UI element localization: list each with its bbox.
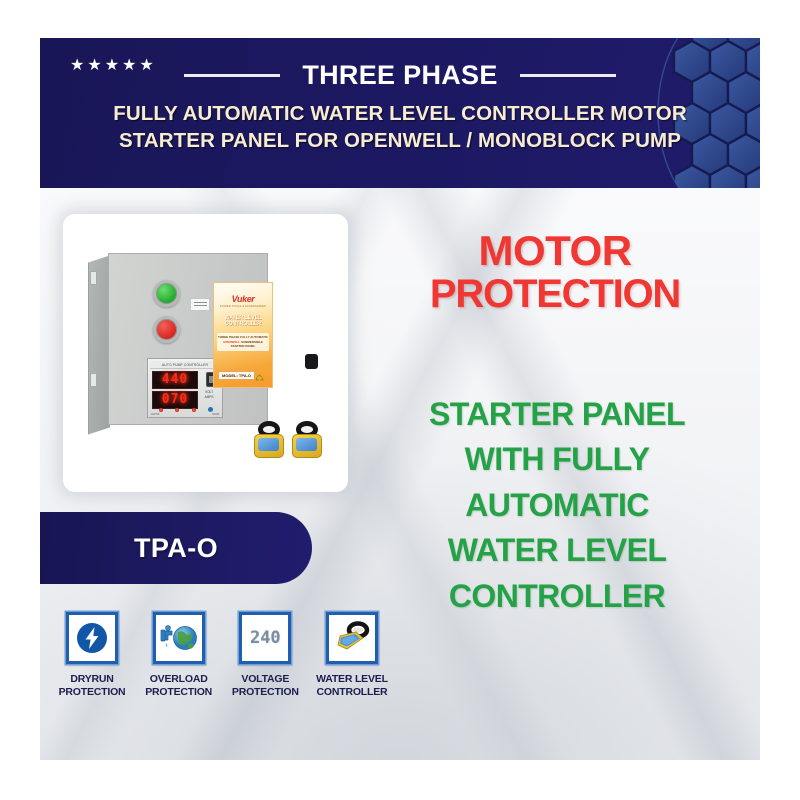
feature-voltage-protection: 240 VOLTAGE PROTECTION	[225, 612, 305, 698]
feature-water-level-controller: WATER LEVEL CONTROLLER	[312, 612, 392, 698]
headline-line-1: MOTOR	[385, 228, 725, 273]
float-body-1	[254, 434, 284, 458]
feature-label-overload: OVERLOAD PROTECTION	[139, 673, 219, 698]
float-sensor-2	[292, 421, 322, 467]
header-subtitle: FULLY AUTOMATIC WATER LEVEL CONTROLLER M…	[40, 100, 760, 154]
product-photo-card: AUTO PUMP CONTROLLER 440 070 VOLT AMPS	[63, 214, 348, 492]
product-photo: AUTO PUMP CONTROLLER 440 070 VOLT AMPS	[72, 223, 339, 483]
headline-line-2: PROTECTION	[385, 273, 725, 316]
sticker-brand-tagline: POWER TOOLS & ACCESSORIES	[214, 305, 272, 308]
green-push-button	[153, 280, 180, 307]
float-body-2	[292, 434, 322, 458]
sticker-spec-box: THREE PHASE FULLY AUTOMATIC OPENWELL SUB…	[217, 333, 269, 351]
divider-left	[184, 74, 280, 77]
body-copy: STARTER PANEL WITH FULLY AUTOMATIC WATER…	[383, 392, 731, 619]
feature-list: DRYRUN PROTECTION	[52, 612, 392, 724]
product-sticker-label: Vuker POWER TOOLS & ACCESSORIES WATER LE…	[213, 282, 273, 388]
body-copy-line-5: CONTROLLER	[383, 574, 731, 619]
feature-label-water-level: WATER LEVEL CONTROLLER	[312, 673, 392, 698]
sticker-highlight: OPENWELL	[223, 340, 240, 344]
model-badge: TPA-O	[40, 512, 312, 584]
meter-footer: AUTO RUN	[151, 412, 219, 416]
float-switch-icon	[326, 612, 378, 664]
feature-overload-protection: OVERLOAD PROTECTION	[139, 612, 219, 698]
header-title-row: THREE PHASE	[40, 54, 760, 96]
sticker-brand: Vuker	[214, 294, 272, 304]
model-badge-label: TPA-O	[134, 533, 218, 564]
meter-header-text: AUTO PUMP CONTROLLER	[150, 361, 220, 369]
header-banner: ★★★★★ THREE PHASE FULLY AUTOMATIC WATER …	[40, 38, 760, 188]
feature-label-voltage: VOLTAGE PROTECTION	[225, 673, 305, 698]
lightning-bolt-icon	[66, 612, 118, 664]
float-switch-sensor-pair	[254, 421, 328, 469]
meter-display-voltage: 440	[152, 371, 198, 389]
body-copy-line-4: WATER LEVEL	[383, 528, 731, 573]
voltage-value: 240	[250, 628, 281, 648]
header-subtitle-line-2: STARTER PANEL FOR OPENWELL / MONOBLOCK P…	[40, 127, 760, 154]
door-latch-knob	[305, 354, 318, 369]
panel-enclosure: AUTO PUMP CONTROLLER 440 070 VOLT AMPS	[108, 253, 268, 425]
headline: MOTOR PROTECTION	[385, 228, 725, 317]
body-copy-line-1: STARTER PANEL	[383, 392, 731, 437]
float-sensor-1	[254, 421, 284, 467]
recycle-icon	[255, 370, 264, 379]
red-push-button	[153, 316, 180, 343]
enclosure-hinge-top	[90, 271, 97, 285]
sticker-title: WATER LEVEL CONTROLLER	[216, 315, 270, 327]
voltage-display-icon: 240	[239, 612, 291, 664]
faucet-globe-icon	[153, 612, 205, 664]
meter-side-labels: VOLT AMPS	[198, 390, 220, 400]
divider-right	[520, 74, 616, 77]
digital-meter: AUTO PUMP CONTROLLER 440 070 VOLT AMPS	[147, 358, 223, 418]
enclosure-hinge-bottom	[90, 373, 97, 387]
meter-displays: 440 070	[152, 371, 198, 411]
poster-canvas: ★★★★★ THREE PHASE FULLY AUTOMATIC WATER …	[0, 0, 800, 800]
header-subtitle-line-1: FULLY AUTOMATIC WATER LEVEL CONTROLLER M…	[40, 100, 760, 127]
body-copy-line-2: WITH FULLY	[383, 437, 731, 482]
feature-dryrun-protection: DRYRUN PROTECTION	[52, 612, 132, 698]
rating-plate	[190, 298, 210, 311]
header-title: THREE PHASE	[302, 60, 497, 91]
feature-label-dryrun: DRYRUN PROTECTION	[52, 673, 132, 698]
body-copy-line-3: AUTOMATIC	[383, 483, 731, 528]
sticker-model-number: MODEL: TPA-O	[218, 371, 255, 380]
